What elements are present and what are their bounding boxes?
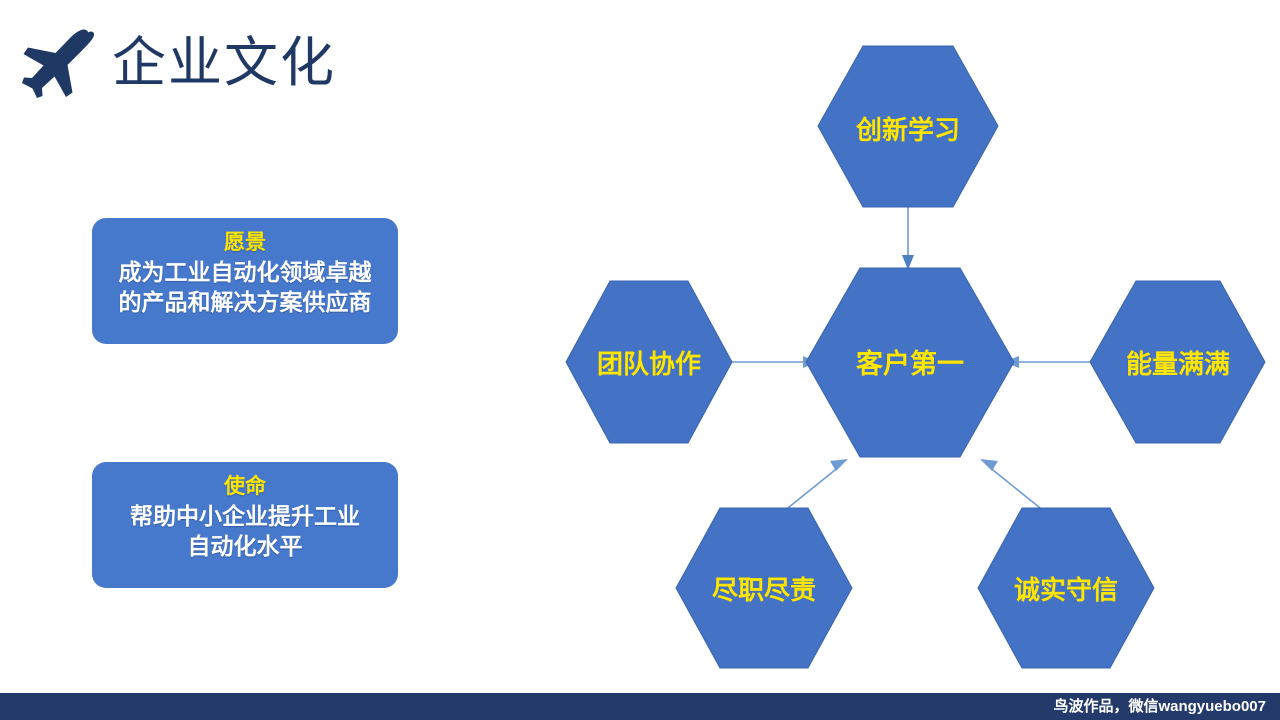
mission-heading: 使命 xyxy=(102,474,388,500)
hexagon-label-bottom-left: 尽职尽责 xyxy=(712,575,816,605)
vision-card: 愿景 成为工业自动化领域卓越 的产品和解决方案供应商 xyxy=(92,218,398,344)
hexagon-label-center: 客户第一 xyxy=(856,348,964,379)
vision-body-line-2: 的产品和解决方案供应商 xyxy=(102,287,388,317)
hexagon-label-left: 团队协作 xyxy=(597,349,701,379)
airplane-icon xyxy=(18,26,98,98)
connector-top-to-center xyxy=(902,207,914,270)
mission-body-line-2: 自动化水平 xyxy=(102,531,388,561)
connector-left-to-center xyxy=(732,356,818,368)
page-title: 企业文化 xyxy=(112,28,336,98)
mission-card: 使命 帮助中小企业提升工业 自动化水平 xyxy=(92,462,398,588)
hexagon-label-bottom-right: 诚实守信 xyxy=(1014,575,1118,605)
hexagon-label-top: 创新学习 xyxy=(855,115,960,145)
hexagon-node-top[interactable]: 创新学习 xyxy=(818,46,998,207)
hexagon-node-left[interactable]: 团队协作 xyxy=(566,281,732,443)
hexagon-node-bottom-left[interactable]: 尽职尽责 xyxy=(676,508,852,668)
hexagon-label-right: 能量满满 xyxy=(1126,349,1230,379)
hexagon-node-bottom-right[interactable]: 诚实守信 xyxy=(978,508,1154,668)
vision-body-line-1: 成为工业自动化领域卓越 xyxy=(102,257,388,287)
hexagon-node-right[interactable]: 能量满满 xyxy=(1090,281,1265,443)
mission-body-line-1: 帮助中小企业提升工业 xyxy=(102,501,388,531)
footer-bar: 鸟波作品，微信wangyuebo007 xyxy=(0,693,1280,720)
slide-canvas: 企业文化 愿景 成为工业自动化领域卓越 的产品和解决方案供应商 使命 帮助中小企… xyxy=(0,0,1280,720)
hexagon-node-center[interactable]: 客户第一 xyxy=(806,268,1014,457)
connector-right-to-center xyxy=(1004,356,1090,368)
vision-heading: 愿景 xyxy=(102,230,388,256)
culture-hexagon-diagram: 创新学习 团队协作 客户第一 能量满满 尽职尽责 xyxy=(520,0,1280,700)
footer-credit: 鸟波作品，微信wangyuebo007 xyxy=(1053,693,1266,720)
